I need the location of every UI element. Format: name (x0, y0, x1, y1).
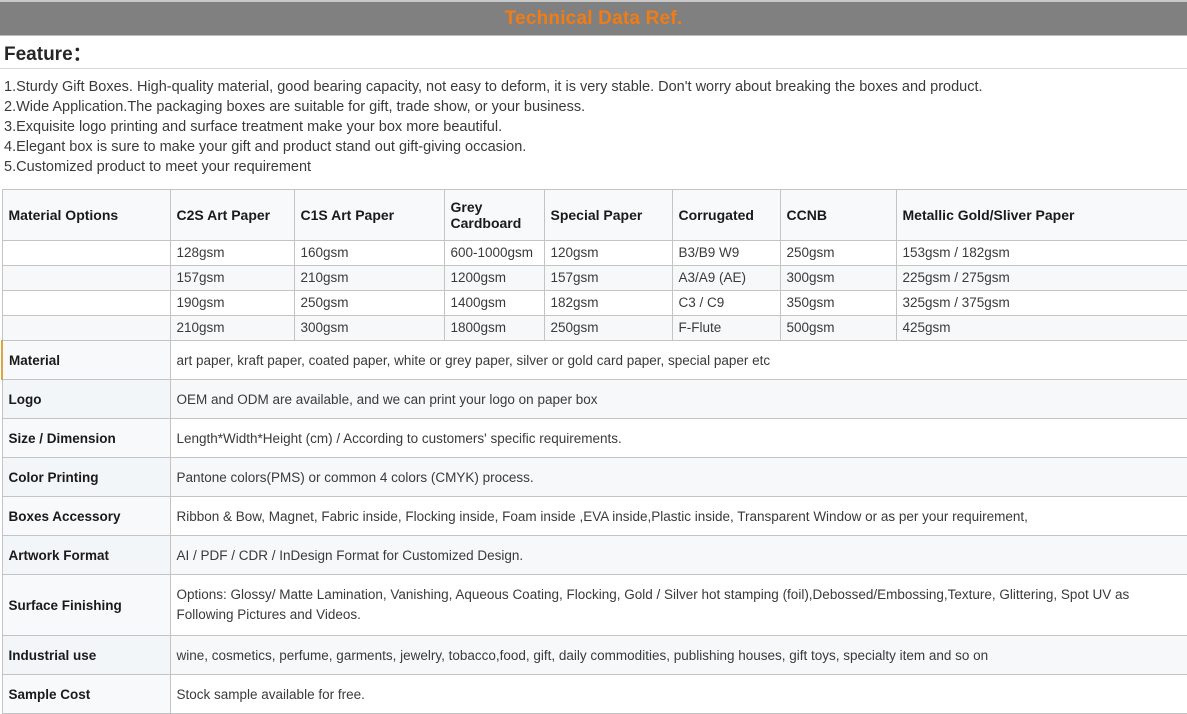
cell-special: 250gsm (544, 316, 672, 341)
detail-row-material: Material art paper, kraft paper, coated … (2, 341, 1187, 380)
detail-value: wine, cosmetics, perfume, garments, jewe… (170, 636, 1187, 675)
detail-value: Options: Glossy/ Matte Lamination, Vanis… (170, 575, 1187, 636)
cell-ccnb: 500gsm (780, 316, 896, 341)
feature-line: 3.Exquisite logo printing and surface tr… (4, 117, 1183, 137)
column-header-metallic-paper: Metallic Gold/Sliver Paper (896, 190, 1187, 241)
cell-c1s: 250gsm (294, 291, 444, 316)
detail-key: Size / Dimension (2, 419, 170, 458)
cell-metallic: 425gsm (896, 316, 1187, 341)
cell-c2s: 190gsm (170, 291, 294, 316)
cell-c2s: 210gsm (170, 316, 294, 341)
cell-metallic: 153gsm / 182gsm (896, 241, 1187, 266)
detail-row-sample-cost: Sample Cost Stock sample available for f… (2, 675, 1187, 714)
detail-row-surface-finishing: Surface Finishing Options: Glossy/ Matte… (2, 575, 1187, 636)
cell-corrugated: B3/B9 W9 (672, 241, 780, 266)
table-header-row: Material Options C2S Art Paper C1S Art P… (2, 190, 1187, 241)
technical-data-sheet: Technical Data Ref. Feature： 1.Sturdy Gi… (0, 0, 1187, 620)
detail-value: art paper, kraft paper, coated paper, wh… (170, 341, 1187, 380)
cell-ccnb: 350gsm (780, 291, 896, 316)
cell-grey: 600-1000gsm (444, 241, 544, 266)
feature-line: 2.Wide Application.The packaging boxes a… (4, 97, 1183, 117)
detail-value: Length*Width*Height (cm) / According to … (170, 419, 1187, 458)
column-header-corrugated: Corrugated (672, 190, 780, 241)
cell-corrugated: F-Flute (672, 316, 780, 341)
column-header-special-paper: Special Paper (544, 190, 672, 241)
feature-list: 1.Sturdy Gift Boxes. High-quality materi… (0, 69, 1187, 183)
feature-line: 1.Sturdy Gift Boxes. High-quality materi… (4, 77, 1183, 97)
cell-corrugated: C3 / C9 (672, 291, 780, 316)
cell-corrugated: A3/A9 (AE) (672, 266, 780, 291)
table-row: 190gsm 250gsm 1400gsm 182gsm C3 / C9 350… (2, 291, 1187, 316)
specification-table: Material Options C2S Art Paper C1S Art P… (1, 189, 1187, 714)
detail-key: Industrial use (2, 636, 170, 675)
cell-special: 120gsm (544, 241, 672, 266)
cell-grey: 1200gsm (444, 266, 544, 291)
cell-c2s: 128gsm (170, 241, 294, 266)
feature-line: 5.Customized product to meet your requir… (4, 157, 1183, 177)
feature-heading: Feature： (4, 39, 92, 66)
detail-row-boxes-accessory: Boxes Accessory Ribbon & Bow, Magnet, Fa… (2, 497, 1187, 536)
cell-ccnb: 300gsm (780, 266, 896, 291)
column-header-ccnb: CCNB (780, 190, 896, 241)
detail-value: OEM and ODM are available, and we can pr… (170, 380, 1187, 419)
detail-key: Material (2, 341, 170, 380)
cell-c2s: 157gsm (170, 266, 294, 291)
cell-c1s: 210gsm (294, 266, 444, 291)
title-bar: Technical Data Ref. (0, 0, 1187, 36)
detail-row-artwork-format: Artwork Format AI / PDF / CDR / InDesign… (2, 536, 1187, 575)
detail-key: Boxes Accessory (2, 497, 170, 536)
cell-special: 157gsm (544, 266, 672, 291)
column-header-c1s-art-paper: C1S Art Paper (294, 190, 444, 241)
cell-material-options (2, 241, 170, 266)
detail-row-size-dimension: Size / Dimension Length*Width*Height (cm… (2, 419, 1187, 458)
detail-key: Surface Finishing (2, 575, 170, 636)
table-row: 157gsm 210gsm 1200gsm 157gsm A3/A9 (AE) … (2, 266, 1187, 291)
detail-value: AI / PDF / CDR / InDesign Format for Cus… (170, 536, 1187, 575)
cell-special: 182gsm (544, 291, 672, 316)
feature-line: 4.Elegant box is sure to make your gift … (4, 137, 1183, 157)
detail-row-color-printing: Color Printing Pantone colors(PMS) or co… (2, 458, 1187, 497)
column-header-c2s-art-paper: C2S Art Paper (170, 190, 294, 241)
cell-grey: 1400gsm (444, 291, 544, 316)
detail-row-logo: Logo OEM and ODM are available, and we c… (2, 380, 1187, 419)
cell-material-options (2, 266, 170, 291)
cell-c1s: 160gsm (294, 241, 444, 266)
feature-heading-row: Feature： (0, 36, 1187, 69)
table-row: 210gsm 300gsm 1800gsm 250gsm F-Flute 500… (2, 316, 1187, 341)
cell-c1s: 300gsm (294, 316, 444, 341)
detail-value: Stock sample available for free. (170, 675, 1187, 714)
cell-material-options (2, 291, 170, 316)
cell-metallic: 325gsm / 375gsm (896, 291, 1187, 316)
detail-key: Color Printing (2, 458, 170, 497)
column-header-grey-cardboard: Grey Cardboard (444, 190, 544, 241)
detail-value: Ribbon & Bow, Magnet, Fabric inside, Flo… (170, 497, 1187, 536)
detail-row-industrial-use: Industrial use wine, cosmetics, perfume,… (2, 636, 1187, 675)
detail-key: Logo (2, 380, 170, 419)
detail-value: Pantone colors(PMS) or common 4 colors (… (170, 458, 1187, 497)
detail-key: Artwork Format (2, 536, 170, 575)
cell-ccnb: 250gsm (780, 241, 896, 266)
page-title: Technical Data Ref. (505, 9, 683, 28)
cell-grey: 1800gsm (444, 316, 544, 341)
cell-material-options (2, 316, 170, 341)
cell-metallic: 225gsm / 275gsm (896, 266, 1187, 291)
column-header-material-options: Material Options (2, 190, 170, 241)
table-row: 128gsm 160gsm 600-1000gsm 120gsm B3/B9 W… (2, 241, 1187, 266)
detail-key: Sample Cost (2, 675, 170, 714)
